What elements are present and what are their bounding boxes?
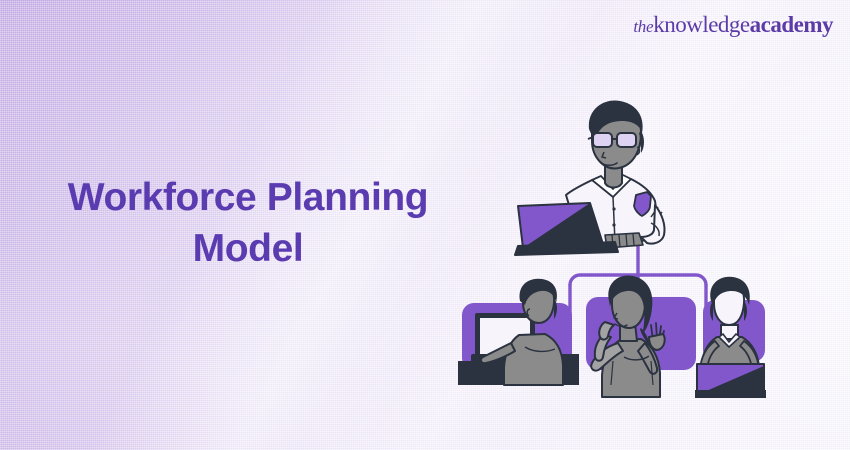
page-title-line-2: Model	[33, 223, 463, 274]
workforce-planning-illustration	[455, 85, 850, 405]
logo-word-the: the	[633, 17, 653, 36]
glasses-icon	[588, 133, 636, 147]
brand-logo[interactable]: theknowledgeacademy	[633, 13, 833, 36]
page-title-line-1: Workforce Planning	[33, 172, 463, 223]
team-member-phone	[591, 275, 664, 397]
team-laptop-icon	[695, 364, 766, 398]
page-title: Workforce Planning Model	[33, 172, 463, 275]
manager-figure	[515, 101, 665, 255]
logo-word-academy: academy	[750, 12, 833, 37]
banner: theknowledgeacademy Workforce Planning M…	[0, 0, 850, 450]
logo-word-knowledge: knowledge	[653, 12, 749, 37]
